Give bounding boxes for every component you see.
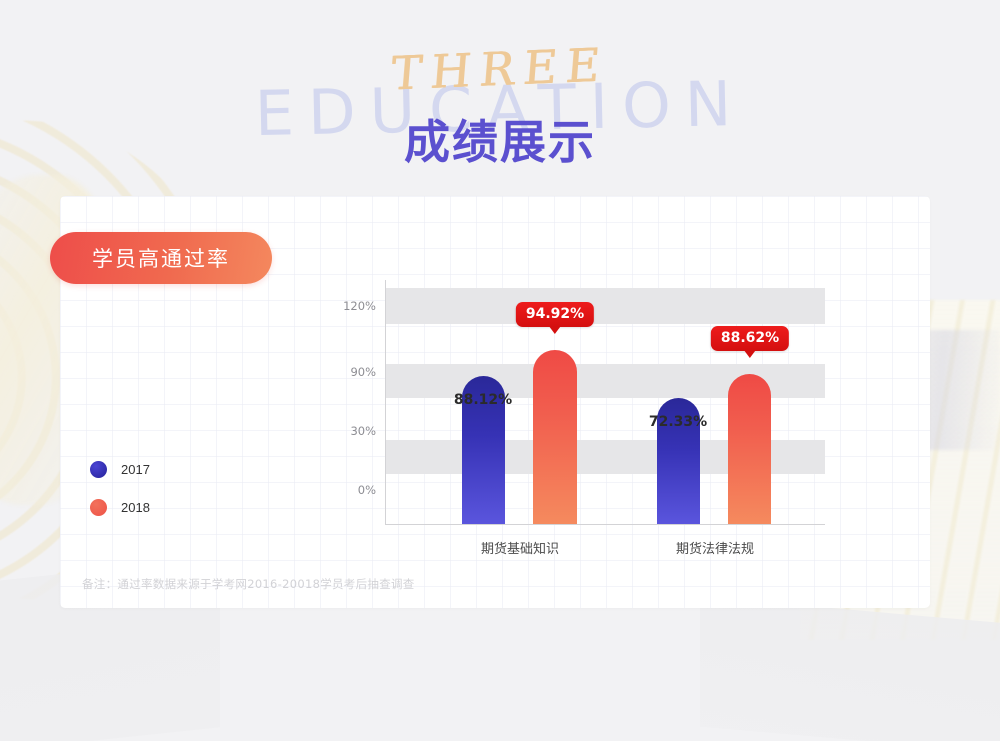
pass-rate-badge: 学员高通过率 bbox=[50, 232, 272, 284]
legend-item-2018[interactable]: 2018 bbox=[90, 488, 150, 526]
chart-plot-area: 120% 90% 30% 0% 88.12% 94.92% 期货基础知识 72.… bbox=[385, 280, 825, 525]
chart-footnote: 备注：通过率数据来源于学考网2016-20018学员考后抽查调查 bbox=[82, 576, 415, 592]
y-axis-tick-90: 90% bbox=[350, 365, 376, 379]
x-axis-label-futures-basics: 期货基础知识 bbox=[481, 538, 559, 557]
y-axis-tick-120: 120% bbox=[343, 299, 376, 313]
y-axis-tick-30: 30% bbox=[350, 424, 376, 438]
y-axis-tick-0: 0% bbox=[358, 483, 376, 497]
bar-value-2017-futures-basics: 88.12% bbox=[454, 392, 512, 408]
pass-rate-bar-chart: 120% 90% 30% 0% 88.12% 94.92% 期货基础知识 72.… bbox=[275, 280, 825, 542]
page-title: 成绩展示 bbox=[0, 106, 1000, 172]
page-header: EDUCATION THREE 成绩展示 bbox=[0, 42, 1000, 182]
bar-2018-futures-basics[interactable] bbox=[533, 350, 577, 524]
results-card: 学员高通过率 2017 2018 120% 90% 30% 0% 88.12% … bbox=[60, 196, 930, 608]
bottom-right-shape-decoration bbox=[700, 597, 1000, 741]
chart-band-1 bbox=[386, 288, 825, 324]
chart-legend: 2017 2018 bbox=[90, 450, 150, 526]
bar-callout-2018-futures-law: 88.62% bbox=[711, 326, 789, 351]
legend-marker-icon-2018 bbox=[90, 499, 107, 516]
legend-label-2018: 2018 bbox=[121, 500, 150, 515]
pass-rate-badge-label: 学员高通过率 bbox=[92, 243, 230, 273]
x-axis-label-futures-law: 期货法律法规 bbox=[676, 538, 754, 557]
bar-callout-2018-futures-basics: 94.92% bbox=[516, 302, 594, 327]
legend-item-2017[interactable]: 2017 bbox=[90, 450, 150, 488]
legend-label-2017: 2017 bbox=[121, 462, 150, 477]
bar-2018-futures-law[interactable] bbox=[728, 374, 771, 524]
bar-value-2017-futures-law: 72.33% bbox=[649, 414, 707, 430]
legend-marker-icon-2017 bbox=[90, 461, 107, 478]
